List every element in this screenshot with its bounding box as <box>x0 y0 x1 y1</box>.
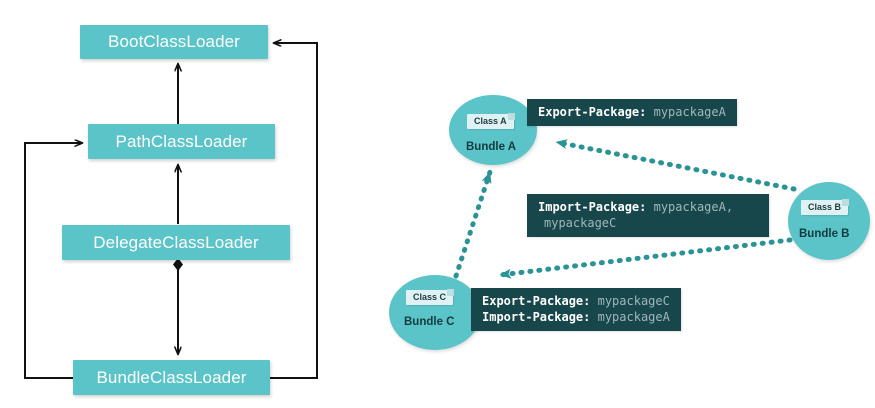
bundle-c-circle[interactable] <box>389 275 481 350</box>
manifest-a-line-1: Export-Package: mypackageA <box>538 104 726 120</box>
manifest-c-line-1: Export-Package: mypackageC <box>482 293 670 309</box>
edge-bundle-to-boot-right <box>270 43 317 378</box>
bundle-b-label: Bundle B <box>799 228 849 240</box>
manifest-bundle-c: Export-Package: mypackageC Import-Packag… <box>471 288 681 331</box>
manifest-a-key-1: Export-Package: <box>538 105 654 119</box>
bundle-b-circle[interactable] <box>788 182 870 260</box>
class-b-chip: Class B <box>801 200 848 215</box>
manifest-c-key-2: Import-Package: <box>482 310 598 324</box>
edge-bundle-to-path-left <box>25 143 82 378</box>
bundle-a-circle[interactable] <box>449 95 537 165</box>
manifest-b-key-1: Import-Package: <box>538 200 654 214</box>
manifest-a-value-1: mypackageA <box>654 105 726 119</box>
class-c-chip: Class C <box>406 290 453 305</box>
node-delegate-class-loader[interactable]: DelegateClassLoader <box>62 225 290 260</box>
wire-bundle-b-to-bundle-c <box>500 240 790 275</box>
edge-delegate-to-bundle <box>173 258 183 354</box>
bundle-c-label: Bundle C <box>404 316 454 328</box>
node-path-class-loader[interactable]: PathClassLoader <box>88 124 275 159</box>
manifest-bundle-a: Export-Package: mypackageA <box>527 99 737 126</box>
manifest-c-value-1: mypackageC <box>598 294 670 308</box>
manifest-b-line-2: mypackageC <box>538 215 733 231</box>
manifest-b-value-1: mypackageA, <box>654 200 733 214</box>
diagram-canvas: BootClassLoader PathClassLoader Delegate… <box>0 0 875 408</box>
manifest-c-value-2: mypackageA <box>598 310 670 324</box>
manifest-c-line-2: Import-Package: mypackageA <box>482 309 670 325</box>
bundle-a-label: Bundle A <box>466 141 516 153</box>
node-boot-class-loader[interactable]: BootClassLoader <box>80 25 268 59</box>
node-boot-class-loader-label: BootClassLoader <box>108 32 240 52</box>
node-delegate-class-loader-label: DelegateClassLoader <box>93 233 258 253</box>
manifest-b-value-2: mypackageC <box>544 216 616 230</box>
class-a-chip: Class A <box>467 114 514 129</box>
manifest-c-key-1: Export-Package: <box>482 294 598 308</box>
wire-bundle-c-to-bundle-a <box>456 172 490 276</box>
node-bundle-class-loader-label: BundleClassLoader <box>96 368 246 388</box>
wire-bundle-b-to-bundle-a <box>556 142 794 189</box>
node-path-class-loader-label: PathClassLoader <box>116 132 248 152</box>
manifest-b-line-1: Import-Package: mypackageA, <box>538 199 733 215</box>
manifest-bundle-b: Import-Package: mypackageA, mypackageC <box>527 194 769 237</box>
node-bundle-class-loader[interactable]: BundleClassLoader <box>73 360 270 395</box>
